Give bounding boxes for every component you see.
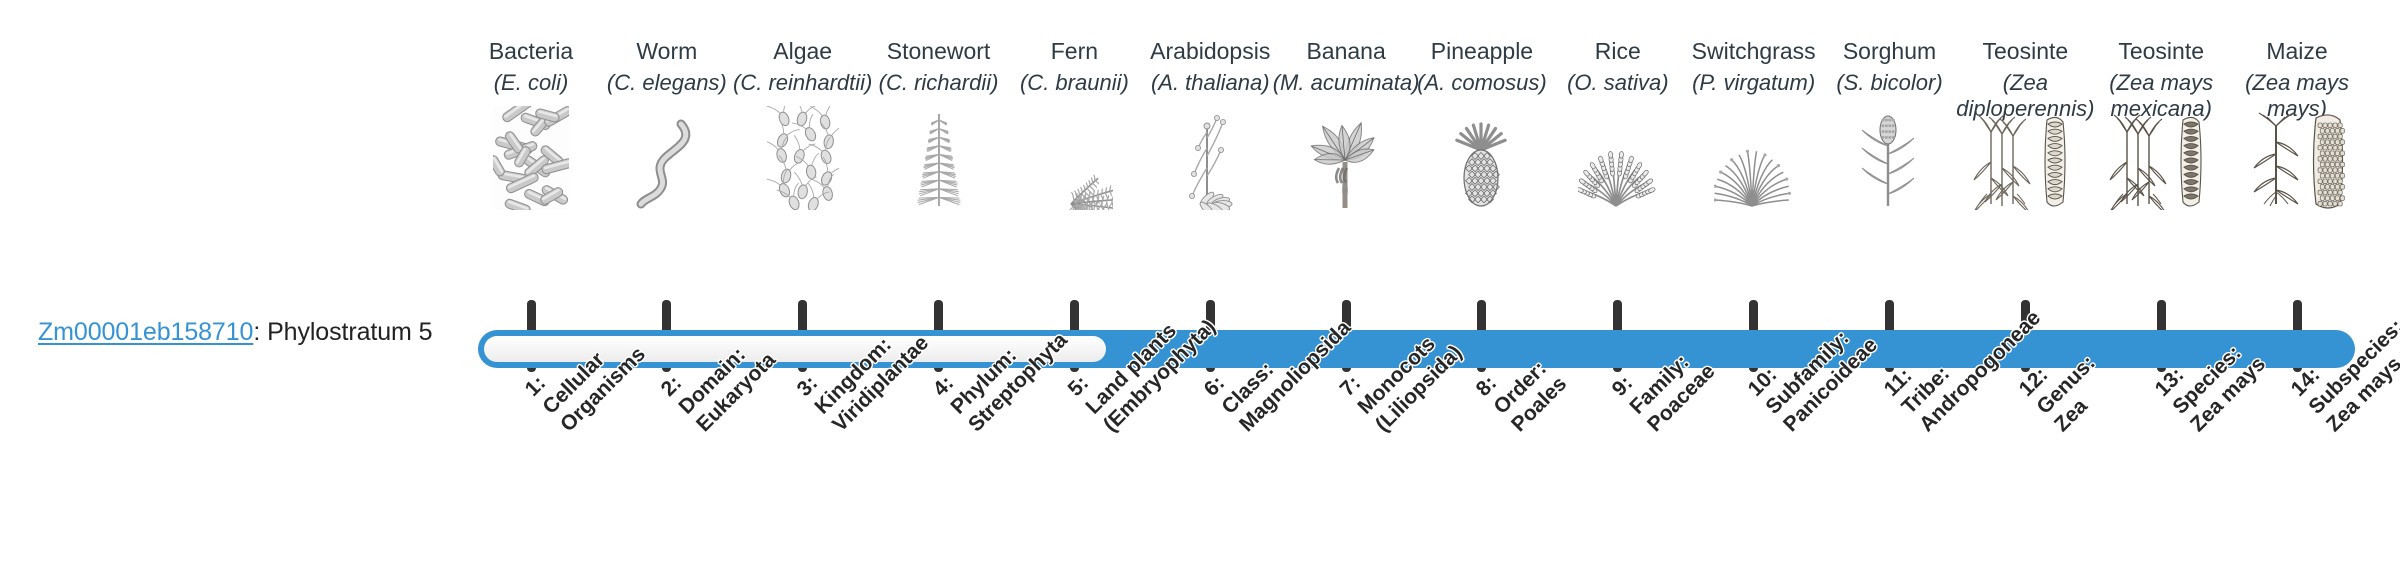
species-common-name: Maize (2229, 38, 2365, 64)
species-scientific-name: (S. bicolor) (1816, 70, 1964, 96)
gene-caption-separator: : (253, 318, 267, 346)
bacteria-illustration (463, 122, 599, 210)
species-scientific-name: (C. elegans) (593, 70, 741, 96)
species-common-name: Bacteria (463, 38, 599, 64)
species-common-name: Teosinte (2093, 38, 2229, 64)
species-scientific-name: (A. comosus) (1408, 70, 1556, 96)
species-scientific-name: (E. coli) (457, 70, 605, 96)
species-common-name: Banana (1278, 38, 1414, 64)
species-common-name: Switchgrass (1686, 38, 1822, 64)
species-common-name: Sorghum (1822, 38, 1958, 64)
species-scientific-name: (C. richardii) (865, 70, 1013, 96)
species-common-name: Worm (599, 38, 735, 64)
species-common-name: Stonewort (871, 38, 1007, 64)
species-scientific-name: (M. acuminata) (1272, 70, 1420, 96)
species-common-name: Rice (1550, 38, 1686, 64)
species-scientific-name: (C. reinhardtii) (729, 70, 877, 96)
gene-id-link[interactable]: Zm00001eb158710 (38, 318, 253, 346)
species-common-name: Algae (735, 38, 871, 64)
phylostratum-figure: Zm00001eb158710: Phylostratum 5 Bacteria… (0, 0, 2400, 580)
species-common-name: Fern (1006, 38, 1142, 64)
species-common-name: Arabidopsis (1142, 38, 1278, 64)
species-scientific-name: (A. thaliana) (1136, 70, 1284, 96)
gene-caption: Zm00001eb158710: Phylostratum 5 (38, 318, 432, 347)
phylostratum-label: Phylostratum 5 (267, 318, 432, 346)
species-common-name: Pineapple (1414, 38, 1550, 64)
species-scientific-name: (C. braunii) (1000, 70, 1148, 96)
species-common-name: Teosinte (1957, 38, 2093, 64)
species-scientific-name: (P. virgatum) (1680, 70, 1828, 96)
species-scientific-name: (O. sativa) (1544, 70, 1692, 96)
